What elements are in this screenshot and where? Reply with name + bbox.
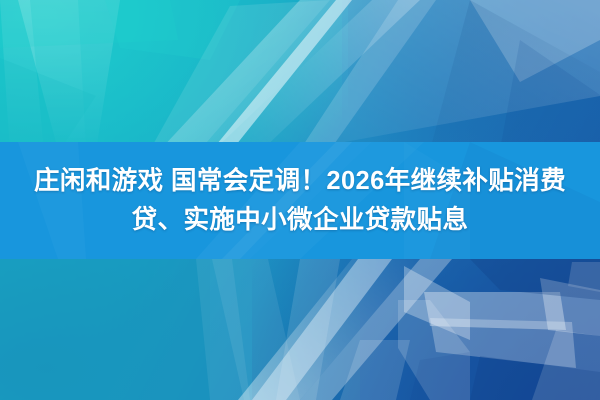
headline-band: 庄闲和游戏 国常会定调！2026年继续补贴消费 贷、实施中小微企业贷款贴息 — [0, 142, 600, 259]
headline-line-1: 庄闲和游戏 国常会定调！2026年继续补贴消费 — [34, 164, 566, 198]
headline-line-2: 贷、实施中小微企业贷款贴息 — [132, 203, 469, 237]
headline-text-block: 庄闲和游戏 国常会定调！2026年继续补贴消费 贷、实施中小微企业贷款贴息 — [0, 142, 600, 259]
news-banner: 庄闲和游戏 国常会定调！2026年继续补贴消费 贷、实施中小微企业贷款贴息 — [0, 0, 600, 400]
